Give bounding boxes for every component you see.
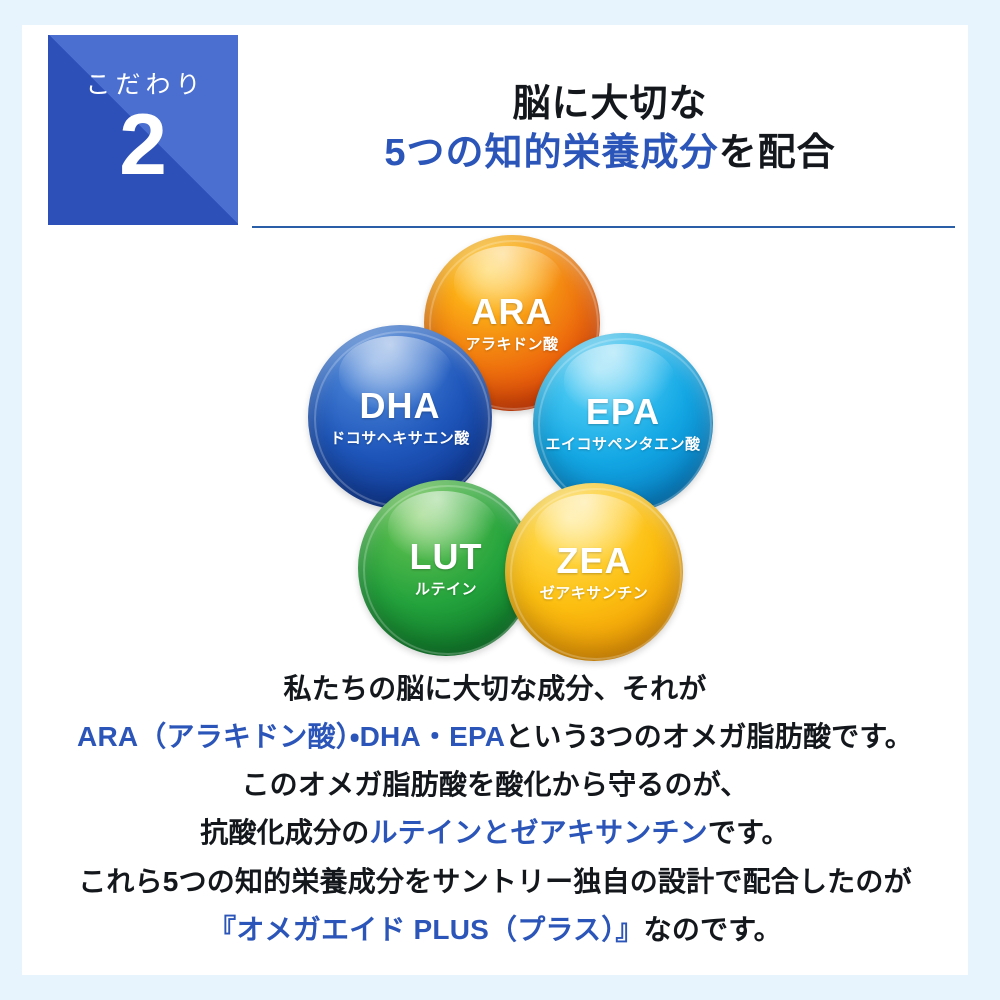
body-line-4-accent: ルテインとゼアキサンチン xyxy=(369,817,707,848)
body-line-6-accent: 『オメガエイド PLUS（プラス）』 xyxy=(208,914,644,945)
body-line-2-rest: という3つのオメガ脂肪酸です。 xyxy=(505,721,913,752)
badge-kicker-label: こだわり xyxy=(80,73,205,98)
title-line-2-rest: を配合 xyxy=(719,132,836,174)
bubble-ara-abbr: ARA xyxy=(472,294,553,330)
header-divider xyxy=(252,226,955,228)
bubble-epa: EPA エイコサペンタエン酸 xyxy=(533,333,713,513)
bubble-epa-abbr: EPA xyxy=(586,394,660,430)
nutrient-bubble-diagram: ARA アラキドン酸 DHA ドコサヘキサエン酸 EPA エイコサペンタエン酸 … xyxy=(290,235,720,660)
bubble-epa-jp: エイコサペンタエン酸 xyxy=(545,437,700,452)
title-line-2-accent: 5つの知的栄養成分 xyxy=(384,132,718,174)
bubble-dha-jp: ドコサヘキサエン酸 xyxy=(330,431,470,446)
content-card: こだわり 2 脳に大切な 5つの知的栄養成分を配合 ARA アラキドン酸 DHA… xyxy=(22,25,968,975)
bubble-lut-jp: ルテイン xyxy=(415,582,477,597)
body-line-4-pre: 抗酸化成分の xyxy=(200,817,369,848)
body-line-2-accent: ARA（アラキドン酸）・DHA・EPA xyxy=(77,721,505,752)
bubble-zea-abbr: ZEA xyxy=(557,543,632,579)
body-line-2: ARA（アラキドン酸）・DHA・EPAという3つのオメガ脂肪酸です。 xyxy=(36,713,954,761)
body-line-5: これら5つの知的栄養成分をサントリー独自の設計で配合したのが xyxy=(36,858,954,906)
bubble-zea: ZEA ゼアキサンチン xyxy=(505,483,683,661)
bubble-ara-jp: アラキドン酸 xyxy=(465,337,558,352)
kodawari-badge: こだわり 2 xyxy=(48,35,238,225)
bubble-zea-jp: ゼアキサンチン xyxy=(540,586,649,601)
body-line-4: 抗酸化成分のルテインとゼアキサンチンです。 xyxy=(36,809,954,857)
badge-number-label: 2 xyxy=(119,102,167,188)
body-copy: 私たちの脳に大切な成分、それが ARA（アラキドン酸）・DHA・EPAという3つ… xyxy=(36,665,954,954)
page-title: 脳に大切な 5つの知的栄養成分を配合 xyxy=(252,80,968,177)
body-line-3: このオメガ脂肪酸を酸化から守るのが、 xyxy=(36,761,954,809)
body-line-6-rest: なのです。 xyxy=(644,914,782,945)
title-line-1: 脳に大切な xyxy=(252,80,968,129)
badge-content: こだわり 2 xyxy=(48,35,238,225)
bubble-dha-abbr: DHA xyxy=(360,388,441,424)
body-line-1: 私たちの脳に大切な成分、それが xyxy=(36,665,954,713)
title-line-2: 5つの知的栄養成分を配合 xyxy=(252,129,968,178)
body-line-6: 『オメガエイド PLUS（プラス）』なのです。 xyxy=(36,906,954,954)
bubble-lut-abbr: LUT xyxy=(410,539,483,575)
body-line-4-post: です。 xyxy=(708,817,790,848)
